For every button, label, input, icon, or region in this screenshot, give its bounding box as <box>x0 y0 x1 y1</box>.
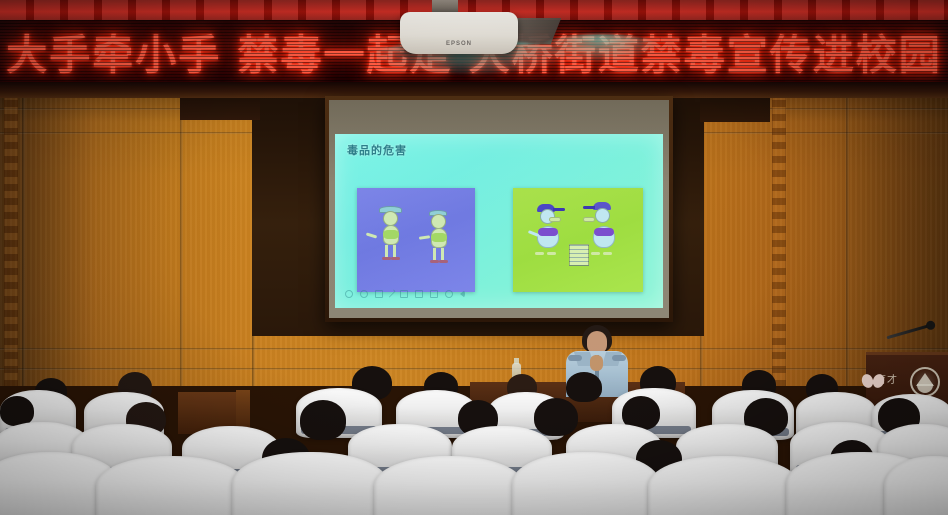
uniform-epaulette <box>612 355 626 361</box>
cartoon-image-right <box>513 188 643 292</box>
wall-seam <box>0 348 948 350</box>
presentation-controls[interactable] <box>345 289 465 298</box>
slide-title: 毒品的危害 <box>347 142 407 158</box>
projection-screen: 毒品的危害 <box>325 96 673 322</box>
zoom-icon[interactable] <box>430 290 438 298</box>
grid-icon[interactable] <box>415 290 423 298</box>
prev-icon[interactable] <box>345 290 353 298</box>
cartoon-figure <box>579 202 633 280</box>
wall-panel-edge <box>22 86 25 386</box>
slides-icon[interactable] <box>375 290 383 298</box>
cartoon-paper-prop <box>569 244 589 266</box>
wall-decor-strip <box>772 86 786 386</box>
wall-decor-strip <box>4 86 18 386</box>
audience-head <box>534 398 578 436</box>
audience-head <box>566 372 602 402</box>
speaker-hand <box>590 355 603 371</box>
auditorium-seat <box>96 456 246 515</box>
screen-surface: 毒品的危害 <box>329 100 669 318</box>
highlighter-icon[interactable] <box>400 290 408 298</box>
hair-bow <box>862 374 884 388</box>
more-icon[interactable] <box>445 290 453 298</box>
wall-seam <box>0 368 948 370</box>
projector-brand-label: EPSON <box>446 41 472 47</box>
pen-icon[interactable] <box>387 289 395 297</box>
auditorium-seat <box>374 456 524 515</box>
wall-panel-edge <box>180 86 183 386</box>
next-icon[interactable] <box>460 290 465 298</box>
presentation-slide: 毒品的危害 <box>335 134 663 308</box>
uniform-epaulette <box>568 355 582 361</box>
auditorium-seat <box>648 456 800 515</box>
cartoon-figure <box>421 210 465 278</box>
school-emblem-icon <box>910 367 940 397</box>
auditorium-seat <box>232 452 388 515</box>
presentation-room-photo: 大手牵小手 禁毒一起走 大桥街道禁毒宣传进校园 EPSON 毒品的危害 <box>0 0 948 515</box>
projector-light-glow <box>540 34 660 62</box>
audience-head <box>300 400 346 440</box>
ceiling-projector: EPSON <box>400 12 518 54</box>
cartoon-figure <box>529 204 577 280</box>
cartoon-image-left <box>357 188 475 292</box>
pointer-icon[interactable] <box>360 290 368 298</box>
auditorium-seat <box>512 452 660 515</box>
cartoon-figure <box>373 206 419 278</box>
wall-panel-edge <box>846 86 849 386</box>
audience-head <box>0 396 34 426</box>
